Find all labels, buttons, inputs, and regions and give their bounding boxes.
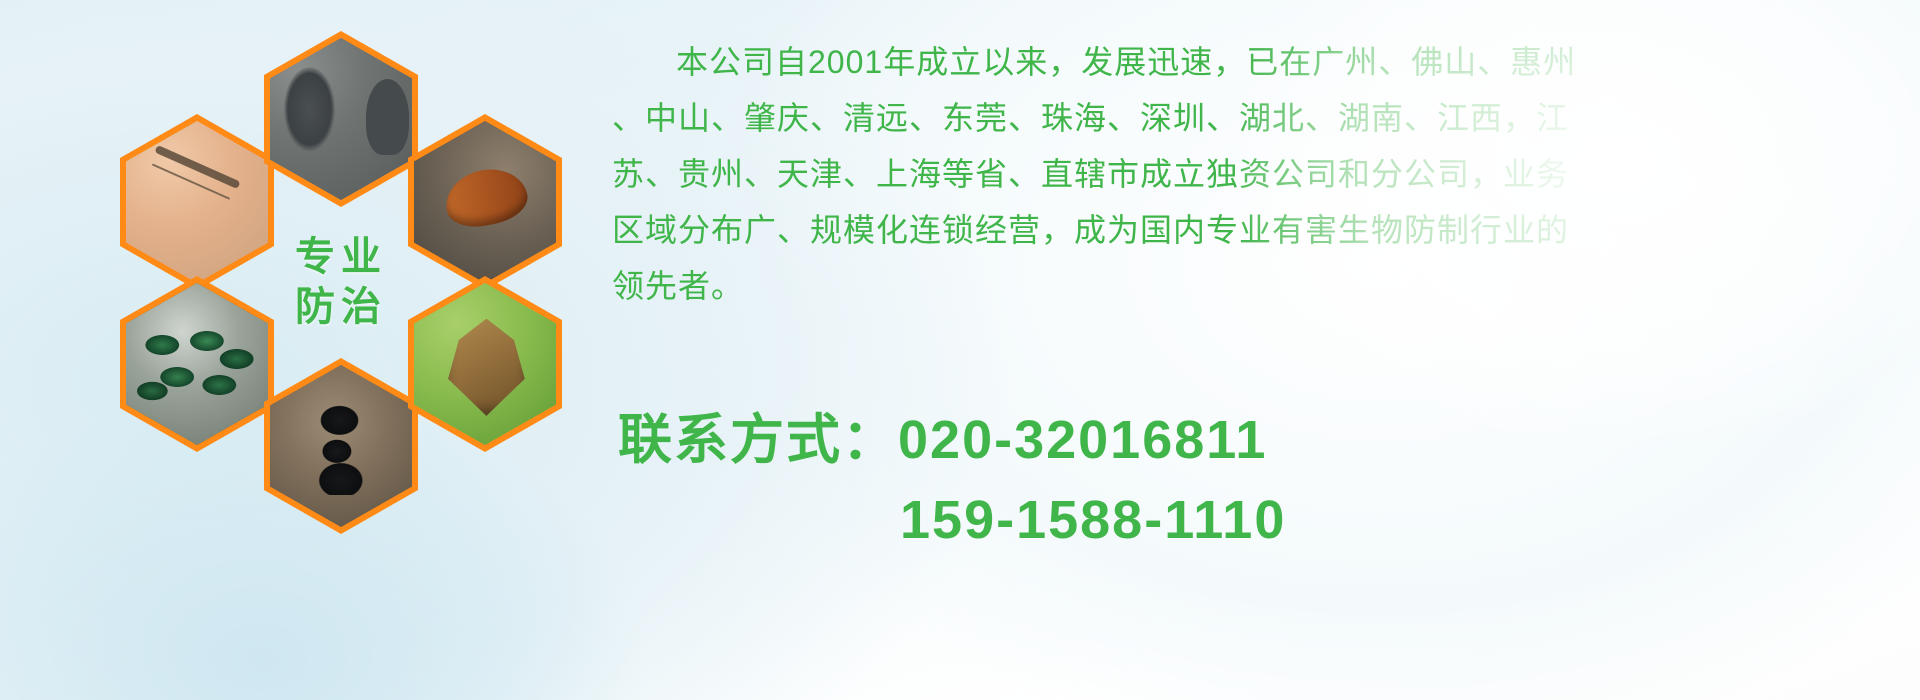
slogan-line-2: 防治 xyxy=(295,282,387,332)
hexagon-collage: 专业 防治 xyxy=(78,6,598,566)
contact-block: 联系方式：020-32016811 159-1588-1110 xyxy=(618,400,1904,560)
promo-banner: 专业 防治 本公司自2001年成立以来，发展迅速，已在广州、佛山、惠州 、中山、… xyxy=(0,0,1920,700)
contact-phone-primary[interactable]: 020-32016811 xyxy=(898,410,1267,470)
slogan-text: 专业 防治 xyxy=(270,201,412,363)
hex-cell-slogan: 专业 防治 xyxy=(264,194,418,370)
cockroach-icon xyxy=(414,121,556,283)
about-paragraph: 本公司自2001年成立以来，发展迅速，已在广州、佛山、惠州 、中山、肇庆、清远、… xyxy=(612,34,1898,314)
contact-secondary-line: 159-1588-1110 xyxy=(618,480,1904,560)
hex-slogan-inner: 专业 防治 xyxy=(270,201,412,363)
ant-icon xyxy=(270,365,412,527)
rat-icon xyxy=(270,38,412,200)
hex-cell-flies-cluster xyxy=(120,276,274,452)
hex-cell-stink-bug-on-leaf xyxy=(408,276,562,452)
about-line-1: 本公司自2001年成立以来，发展迅速，已在广州、佛山、惠州 xyxy=(612,34,1898,90)
hex-image-stink-bug-on-leaf xyxy=(414,283,556,445)
hex-cell-ants-on-soil xyxy=(264,358,418,534)
fly-icon xyxy=(126,283,268,445)
about-line-4: 区域分布广、规模化连锁经营，成为国内专业有害生物防制行业的 xyxy=(612,202,1898,258)
hex-cell-rats-on-ground xyxy=(264,31,418,207)
contact-primary-line: 联系方式：020-32016811 xyxy=(618,400,1904,480)
hex-image-cockroach-on-asphalt xyxy=(414,121,556,283)
about-line-5: 领先者。 xyxy=(612,258,1898,314)
hex-image-ants-on-soil xyxy=(270,365,412,527)
hex-image-flies-cluster xyxy=(126,283,268,445)
hex-image-rats-on-ground xyxy=(270,38,412,200)
contact-phone-secondary[interactable]: 159-1588-1110 xyxy=(900,490,1286,550)
slogan-line-1: 专业 xyxy=(295,232,387,282)
hex-image-mosquito-on-skin xyxy=(126,121,268,283)
about-line-2: 、中山、肇庆、清远、东莞、珠海、深圳、湖北、湖南、江西，江 xyxy=(612,90,1898,146)
stink-bug-icon xyxy=(414,283,556,445)
mosquito-icon xyxy=(126,121,268,283)
contact-label: 联系方式： xyxy=(618,410,898,470)
hex-cell-mosquito-on-skin xyxy=(120,114,274,290)
hex-cell-cockroach-on-asphalt xyxy=(408,114,562,290)
about-line-3: 苏、贵州、天津、上海等省、直辖市成立独资公司和分公司，业务 xyxy=(612,146,1898,202)
